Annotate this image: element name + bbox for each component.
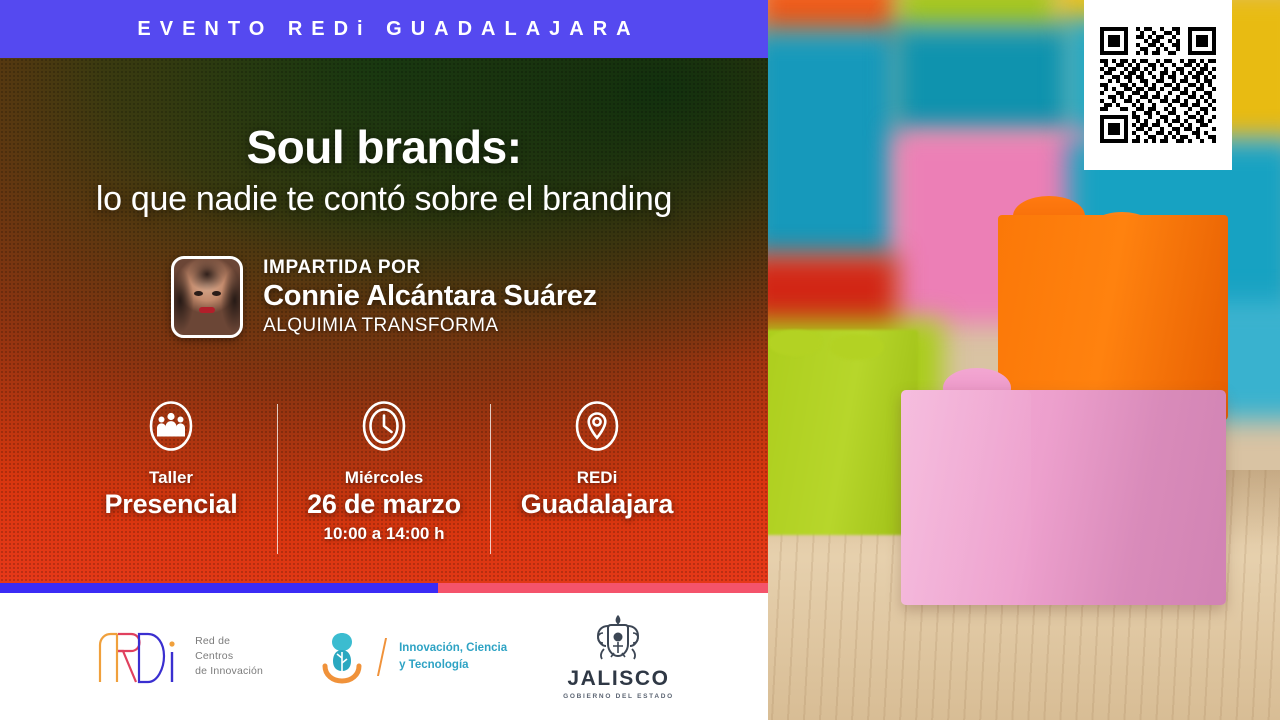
event-poster: EVENTO REDi GUADALAJARA Soul brands: lo …: [0, 0, 1280, 720]
event-header-text: EVENTO REDi GUADALAJARA: [128, 18, 639, 41]
avatar-eye-left: [194, 291, 203, 296]
speaker-text: IMPARTIDA POR Connie Alcántara Suárez AL…: [263, 257, 597, 337]
icyt-line-1: Innovación, Ciencia: [399, 640, 507, 656]
redi-logo-icon: [94, 628, 186, 686]
jalisco-logo: JALISCO GOBIERNO DEL ESTADO: [563, 613, 674, 700]
info-column-venue: REDi Guadalajara: [497, 398, 697, 520]
avatar-lips: [199, 307, 215, 313]
qr-code-image: [1100, 27, 1216, 143]
info-divider-2: [490, 404, 491, 554]
page-title: Soul brands:: [0, 120, 768, 174]
jalisco-logo-name: JALISCO: [563, 667, 674, 691]
info-large-label: 26 de marzo: [284, 489, 484, 520]
poster-left-panel: EVENTO REDi GUADALAJARA Soul brands: lo …: [0, 0, 768, 720]
green-brick-stud-2: [830, 334, 884, 360]
icyt-line-2: y Tecnología: [399, 657, 507, 673]
info-small-label: Miércoles: [284, 468, 484, 488]
sponsor-footer: Red de Centros de Innovación Innovación,…: [0, 593, 768, 720]
info-column-date: Miércoles 26 de marzo 10:00 a 14:00 h: [284, 398, 484, 544]
icyt-logo-text: Innovación, Ciencia y Tecnología: [399, 640, 507, 672]
clock-icon: [360, 398, 408, 454]
bg-brick-teal-left: [768, 30, 898, 260]
jalisco-logo-subtitle: GOBIERNO DEL ESTADO: [563, 693, 674, 700]
avatar: [171, 256, 243, 338]
speaker-block: IMPARTIDA POR Connie Alcántara Suárez AL…: [0, 256, 768, 338]
poster-artwork-background: Soul brands: lo que nadie te contó sobre…: [0, 58, 768, 583]
icyt-logo: Innovación, Ciencia y Tecnología: [319, 630, 507, 684]
pink-brick-edge-highlight: [901, 390, 1031, 605]
icyt-logo-icon: [319, 630, 365, 684]
bg-brick-teal-mid: [893, 26, 1073, 136]
redi-logo-text: Red de Centros de Innovación: [195, 634, 263, 680]
info-large-label: Presencial: [71, 489, 271, 520]
event-info-row: Taller Presencial Miércoles 26 de marzo …: [0, 398, 768, 554]
speaker-organization: ALQUIMIA TRANSFORMA: [263, 315, 597, 337]
icyt-logo-separator: [377, 638, 387, 676]
qr-code[interactable]: [1084, 0, 1232, 170]
speaker-prefix: IMPARTIDA POR: [263, 257, 597, 279]
lego-photo: [768, 0, 1280, 720]
info-small-label: REDi: [497, 468, 697, 488]
location-icon: [573, 398, 621, 454]
accent-bar-blue: [0, 583, 438, 593]
avatar-hair: [174, 259, 240, 335]
people-icon: [147, 398, 195, 454]
event-header-bar: EVENTO REDi GUADALAJARA: [0, 0, 768, 58]
redi-line-2: Centros: [195, 649, 263, 664]
lego-photo-background: [768, 0, 1280, 720]
speaker-name: Connie Alcántara Suárez: [263, 280, 597, 313]
green-brick-stud-1: [768, 330, 822, 356]
info-column-modality: Taller Presencial: [71, 398, 271, 520]
hero-titles: Soul brands: lo que nadie te contó sobre…: [0, 120, 768, 219]
jalisco-coat-of-arms-icon: [587, 613, 649, 669]
info-divider-1: [277, 404, 278, 554]
info-time-label: 10:00 a 14:00 h: [284, 524, 484, 544]
redi-line-3: de Innovación: [195, 664, 263, 679]
info-small-label: Taller: [71, 468, 271, 488]
info-large-label: Guadalajara: [497, 489, 697, 520]
accent-bar-pink: [438, 583, 768, 593]
page-subtitle: lo que nadie te contó sobre el branding: [0, 180, 768, 219]
redi-logo: Red de Centros de Innovación: [94, 628, 263, 686]
redi-line-1: Red de: [195, 634, 263, 649]
green-lego-brick: [768, 330, 918, 535]
accent-bar: [0, 583, 768, 593]
